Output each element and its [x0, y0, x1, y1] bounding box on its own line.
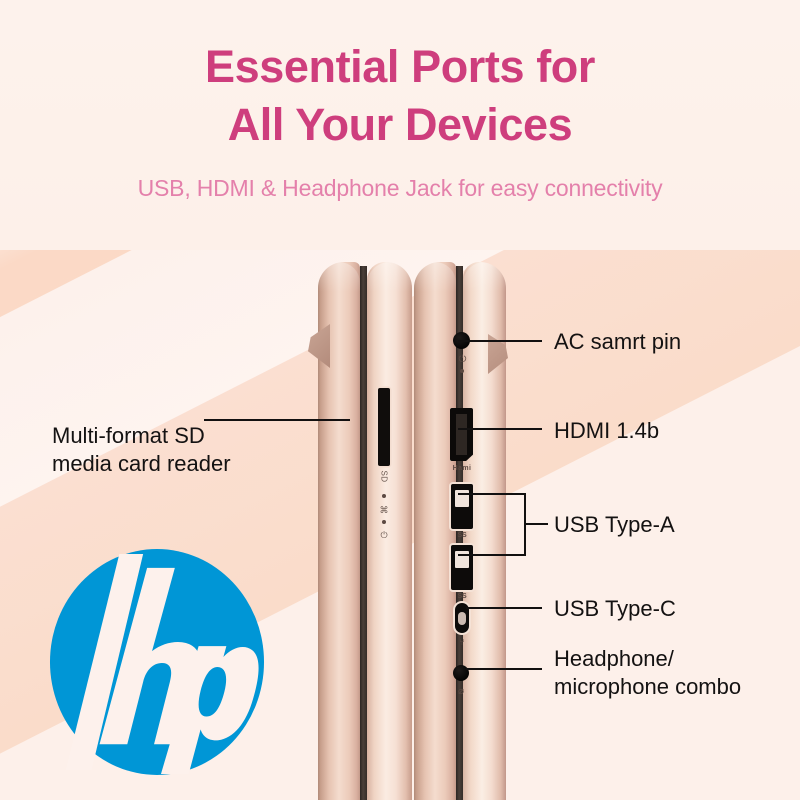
leader-line-sd-reader [204, 419, 350, 421]
hdmi-port-inner [456, 414, 467, 455]
leader-line-usb-c [466, 607, 542, 609]
ac-power-icon: ⏻ [450, 354, 474, 365]
laptop-right-inner-top-highlight [463, 262, 506, 292]
hp-logo [48, 548, 266, 776]
usb-a-port-2 [451, 545, 473, 590]
laptop-left-seam [360, 266, 367, 800]
callout-usb-c: USB Type-C [554, 595, 676, 623]
title-line-1: Essential Ports for [0, 38, 800, 96]
callout-headphone: Headphone/ microphone combo [554, 645, 741, 700]
callout-hdmi: HDMI 1.4b [554, 417, 659, 445]
hp-logo-svg [48, 548, 266, 776]
headphone-icon: ⌀ [449, 686, 473, 697]
usb-a-port-1-ss-label: SS [446, 532, 478, 539]
laptop-right-profile: ⏻ Hami SS SS ⑂ ⌀ [414, 262, 506, 800]
usb-a-port-1 [451, 484, 473, 529]
status-led-2 [382, 520, 386, 524]
leader-line-usb-a-lower [458, 554, 526, 556]
laptop-left-inner-top-highlight [367, 262, 412, 292]
callout-usb-a: USB Type-A [554, 511, 675, 539]
header: Essential Ports for All Your Devices USB… [0, 0, 800, 202]
status-led-1 [382, 494, 386, 498]
usb-a-port-2-ss-label: SS [446, 593, 478, 600]
sd-slot-label: SD [380, 466, 389, 488]
laptop-right-outer-shell [414, 262, 456, 800]
laptop-left-body [318, 262, 412, 800]
callout-headphone-line-2: microphone combo [554, 673, 741, 701]
ac-status-led [460, 369, 464, 373]
page-title: Essential Ports for All Your Devices [0, 0, 800, 153]
leader-line-usb-a-upper [458, 493, 526, 495]
callout-ac-pin: AC samrt pin [554, 328, 681, 356]
title-line-2: All Your Devices [0, 96, 800, 154]
callout-sd-reader-line-1: Multi-format SD [52, 422, 231, 450]
mute-icon: ⌘ [378, 505, 390, 516]
callout-sd-reader-line-2: media card reader [52, 450, 231, 478]
usb-icon: ⑂ [448, 637, 476, 647]
laptop-left-top-highlight [318, 262, 360, 292]
hdmi-port-label: Hami [447, 465, 477, 472]
leader-line-usb-a-stem [524, 523, 548, 525]
sd-card-slot [378, 388, 390, 466]
infographic-canvas: Essential Ports for All Your Devices USB… [0, 0, 800, 800]
power-icon-left: ⏻ [378, 530, 390, 541]
leader-line-hdmi [458, 428, 542, 430]
callout-headphone-line-1: Headphone/ [554, 645, 741, 673]
page-subtitle: USB, HDMI & Headphone Jack for easy conn… [0, 153, 800, 202]
callout-sd-reader: Multi-format SD media card reader [52, 422, 231, 477]
laptop-right-top-highlight [414, 262, 456, 292]
usb-c-port-tongue [458, 612, 466, 625]
laptop-left-profile: SD ⌘ ⏻ [318, 262, 412, 800]
leader-line-ac-pin [458, 340, 542, 342]
leader-line-headphone [466, 668, 542, 670]
